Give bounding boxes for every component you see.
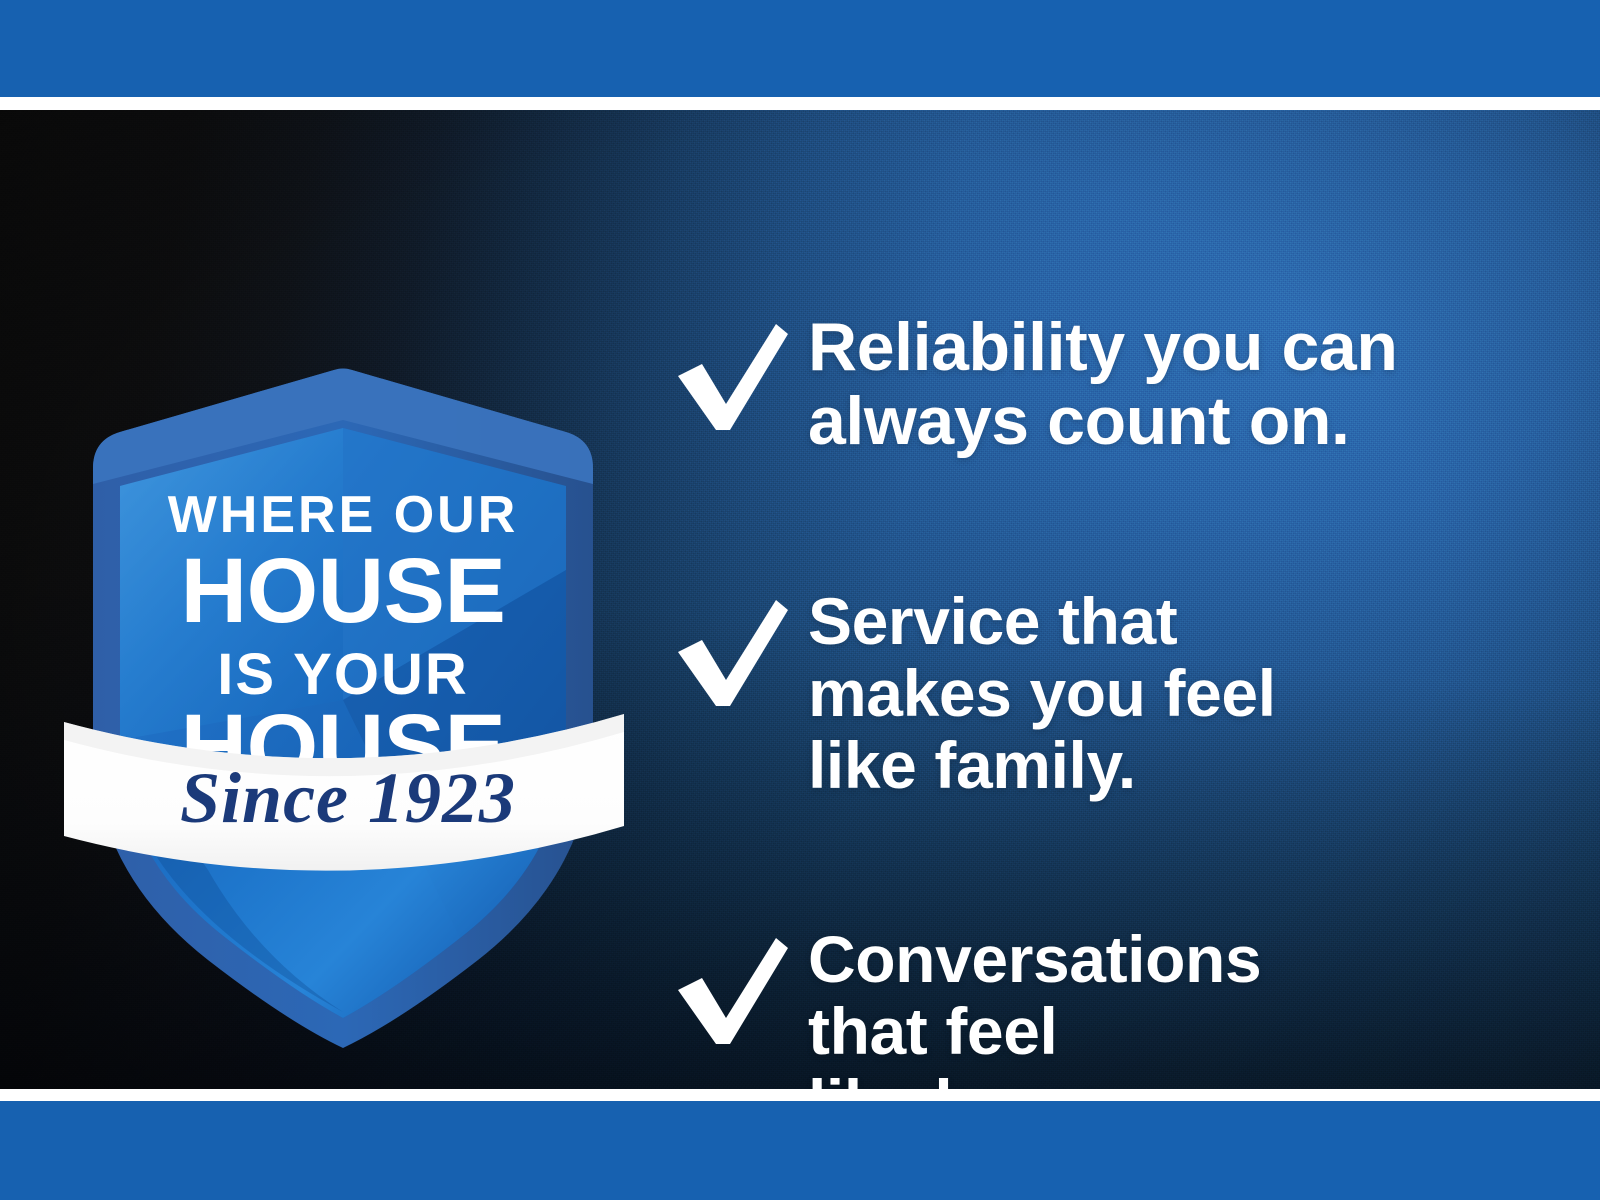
main-panel: WHERE OUR HOUSE IS YOUR HOUSE Since 1923… [0, 110, 1600, 1089]
checkmark-icon [672, 934, 790, 1052]
shield-line-1: WHERE OUR [168, 486, 519, 544]
benefit-text-3: Conversations that feel like home. [790, 924, 1572, 1089]
top-brand-bar [0, 0, 1600, 97]
shield-graphic: WHERE OUR HOUSE IS YOUR HOUSE Since 1923 [58, 270, 628, 1060]
checkmark-icon [672, 596, 790, 714]
benefit-text-2: Service that makes you feel like family. [790, 586, 1572, 802]
ribbon-since-text: Since 1923 [180, 758, 516, 838]
checkmark-icon [672, 320, 790, 438]
benefits-list: Reliability you can always count on. Ser… [672, 310, 1572, 1089]
bottom-brand-bar [0, 1101, 1600, 1200]
benefit-text-1: Reliability you can always count on. [790, 310, 1572, 458]
benefit-item-3: Conversations that feel like home. [672, 924, 1572, 1089]
benefit-item-1: Reliability you can always count on. [672, 310, 1572, 458]
benefit-item-2: Service that makes you feel like family. [672, 586, 1572, 802]
logo-shield: WHERE OUR HOUSE IS YOUR HOUSE Since 1923 [58, 270, 628, 1060]
promotional-graphic: WHERE OUR HOUSE IS YOUR HOUSE Since 1923… [0, 0, 1600, 1200]
shield-line-2: HOUSE [181, 540, 506, 642]
